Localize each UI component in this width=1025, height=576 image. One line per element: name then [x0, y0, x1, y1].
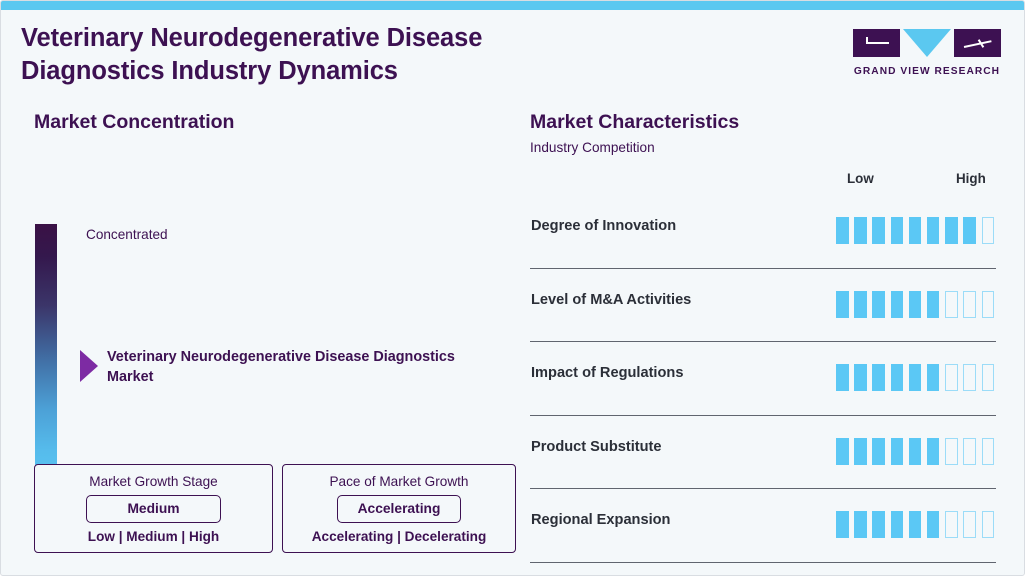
rating-tick-empty [963, 291, 976, 318]
brand-logo: GRAND VIEW RESEARCH [853, 29, 1001, 77]
rating-tick-filled [836, 291, 849, 318]
rating-tick-filled [836, 364, 849, 391]
rating-tick-empty [963, 511, 976, 538]
rating-tick-filled [963, 217, 976, 244]
market-concentration-title: Market Concentration [34, 111, 514, 134]
characteristic-rating-bars [836, 217, 994, 244]
characteristic-rating-bars [836, 438, 994, 465]
characteristic-row: Regional Expansion [530, 489, 996, 563]
logo-block-left-icon [853, 29, 900, 57]
market-position-label: Veterinary Neurodegenerative Disease Dia… [107, 348, 457, 388]
market-characteristics-panel: Market Characteristics Industry Competit… [530, 111, 996, 563]
rating-tick-filled [872, 291, 885, 318]
characteristic-rating-bars [836, 511, 994, 538]
characteristic-rating-bars [836, 364, 994, 391]
rating-tick-filled [836, 217, 849, 244]
rating-tick-empty [945, 511, 958, 538]
rating-tick-empty [945, 291, 958, 318]
rating-tick-empty [963, 364, 976, 391]
rating-tick-filled [872, 217, 885, 244]
rating-tick-filled [854, 217, 867, 244]
rating-tick-filled [854, 511, 867, 538]
concentration-scale: Concentrated Fragmented Veterinary Neuro… [34, 162, 514, 447]
rating-tick-empty [982, 217, 995, 244]
rating-tick-filled [927, 364, 940, 391]
pace-of-market-growth-heading: Pace of Market Growth [295, 474, 503, 489]
rating-tick-filled [945, 217, 958, 244]
rating-tick-filled [891, 364, 904, 391]
rating-tick-filled [909, 291, 922, 318]
market-growth-stage-value: Medium [86, 495, 221, 523]
rating-tick-filled [909, 364, 922, 391]
rating-scale-high-label: High [956, 171, 986, 186]
rating-tick-empty [982, 291, 995, 318]
market-position-label-line-1: Veterinary Neurodegenerative Disease [107, 349, 369, 365]
rating-tick-empty [982, 438, 995, 465]
rating-tick-filled [891, 511, 904, 538]
characteristic-label: Regional Expansion [531, 512, 670, 528]
logo-block-right-icon [954, 29, 1001, 57]
characteristic-row: Impact of Regulations [530, 342, 996, 416]
logo-triangle-icon [903, 29, 951, 57]
characteristic-rating-bars [836, 291, 994, 318]
rating-tick-filled [872, 364, 885, 391]
rating-tick-empty [982, 511, 995, 538]
market-growth-stage-card: Market Growth Stage Medium Low | Medium … [34, 464, 273, 553]
infographic-canvas: Veterinary Neurodegenerative Disease Dia… [0, 0, 1025, 576]
market-growth-stage-heading: Market Growth Stage [47, 474, 260, 489]
characteristics-rows: Degree of InnovationLevel of M&A Activit… [530, 195, 996, 563]
rating-tick-filled [909, 438, 922, 465]
concentration-top-label: Concentrated [86, 227, 168, 242]
logo-wordmark: GRAND VIEW RESEARCH [853, 66, 1001, 77]
logo-marks [853, 29, 1001, 59]
characteristic-label: Level of M&A Activities [531, 292, 691, 308]
rating-tick-filled [836, 511, 849, 538]
rating-tick-filled [891, 438, 904, 465]
market-characteristics-title: Market Characteristics [530, 111, 996, 134]
rating-tick-empty [982, 364, 995, 391]
characteristic-label: Degree of Innovation [531, 218, 676, 234]
rating-scale-labels: Low High [530, 171, 996, 193]
characteristic-label: Product Substitute [531, 439, 662, 455]
market-position-arrow-icon [80, 350, 98, 382]
rating-tick-empty [963, 438, 976, 465]
pace-of-market-growth-scale: Accelerating | Decelerating [295, 529, 503, 544]
market-growth-stage-scale: Low | Medium | High [47, 529, 260, 544]
characteristic-row: Product Substitute [530, 416, 996, 490]
rating-tick-filled [854, 291, 867, 318]
characteristic-row: Level of M&A Activities [530, 269, 996, 343]
page-title: Veterinary Neurodegenerative Disease Dia… [21, 22, 641, 87]
rating-tick-filled [854, 438, 867, 465]
rating-tick-filled [891, 291, 904, 318]
rating-tick-filled [872, 438, 885, 465]
rating-tick-filled [927, 438, 940, 465]
header: Veterinary Neurodegenerative Disease Dia… [21, 22, 641, 87]
pace-of-market-growth-card: Pace of Market Growth Accelerating Accel… [282, 464, 516, 553]
market-concentration-panel: Market Concentration Concentrated Fragme… [34, 111, 514, 447]
rating-tick-filled [854, 364, 867, 391]
characteristic-label: Impact of Regulations [531, 365, 683, 381]
rating-tick-filled [872, 511, 885, 538]
page-title-line-1: Veterinary Neurodegenerative Disease [21, 24, 482, 52]
rating-tick-filled [836, 438, 849, 465]
market-characteristics-subtitle: Industry Competition [530, 140, 996, 155]
rating-tick-filled [909, 217, 922, 244]
growth-stage-boxes: Market Growth Stage Medium Low | Medium … [34, 464, 516, 553]
pace-of-market-growth-value: Accelerating [337, 495, 461, 523]
concentration-gradient-bar [35, 224, 57, 495]
rating-tick-filled [927, 511, 940, 538]
rating-tick-filled [909, 511, 922, 538]
page-title-line-2: Diagnostics Industry Dynamics [21, 57, 398, 85]
rating-tick-filled [927, 291, 940, 318]
rating-tick-filled [927, 217, 940, 244]
rating-scale-low-label: Low [847, 171, 874, 186]
rating-tick-empty [945, 438, 958, 465]
characteristic-row: Degree of Innovation [530, 195, 996, 269]
rating-tick-empty [945, 364, 958, 391]
rating-tick-filled [891, 217, 904, 244]
top-accent-bar [1, 1, 1025, 10]
